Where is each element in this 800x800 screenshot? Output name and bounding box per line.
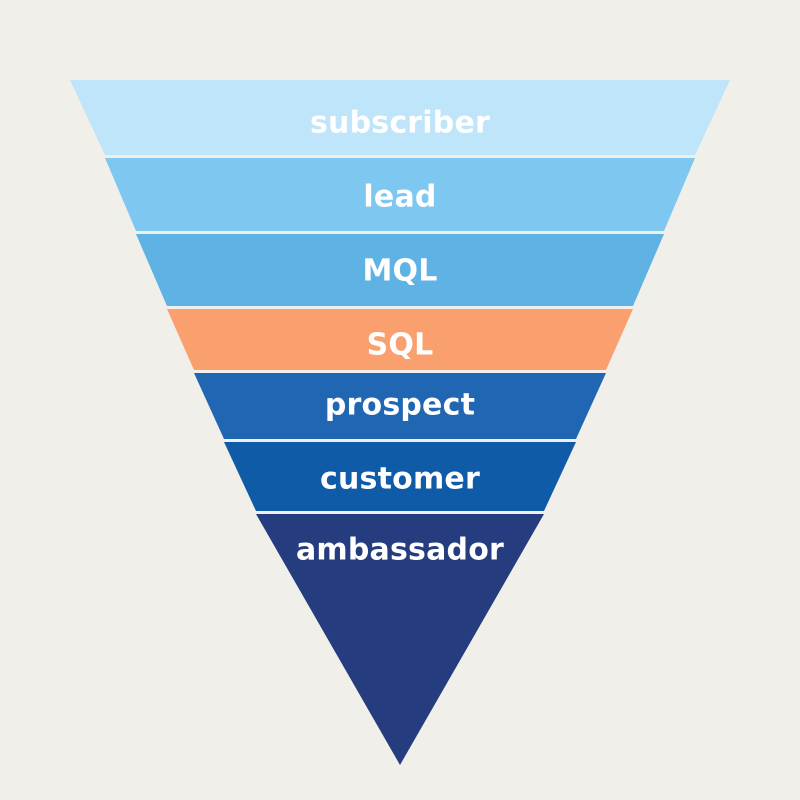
funnel-label-sql: SQL [367, 328, 434, 363]
funnel-segment-ambassador[interactable]: ambassador [256, 514, 544, 765]
funnel-label-ambassador: ambassador [296, 533, 504, 568]
funnel-label-mql: MQL [362, 254, 437, 289]
funnel-segment-customer[interactable]: customer [224, 442, 576, 511]
funnel-label-prospect: prospect [325, 388, 475, 423]
funnel-label-lead: lead [363, 180, 436, 215]
funnel-segment-subscriber[interactable]: subscriber [70, 80, 730, 155]
funnel-chart: subscriber lead MQL SQL prospect custome… [0, 0, 800, 800]
funnel-diagram-page: subscriber lead MQL SQL prospect custome… [0, 0, 800, 800]
funnel-segment-mql[interactable]: MQL [136, 234, 664, 306]
funnel-label-customer: customer [320, 462, 480, 497]
funnel-segment-sql[interactable]: SQL [167, 309, 633, 370]
funnel-segment-prospect[interactable]: prospect [194, 373, 606, 439]
funnel-label-subscriber: subscriber [310, 106, 490, 141]
funnel-segment-lead[interactable]: lead [105, 158, 695, 231]
